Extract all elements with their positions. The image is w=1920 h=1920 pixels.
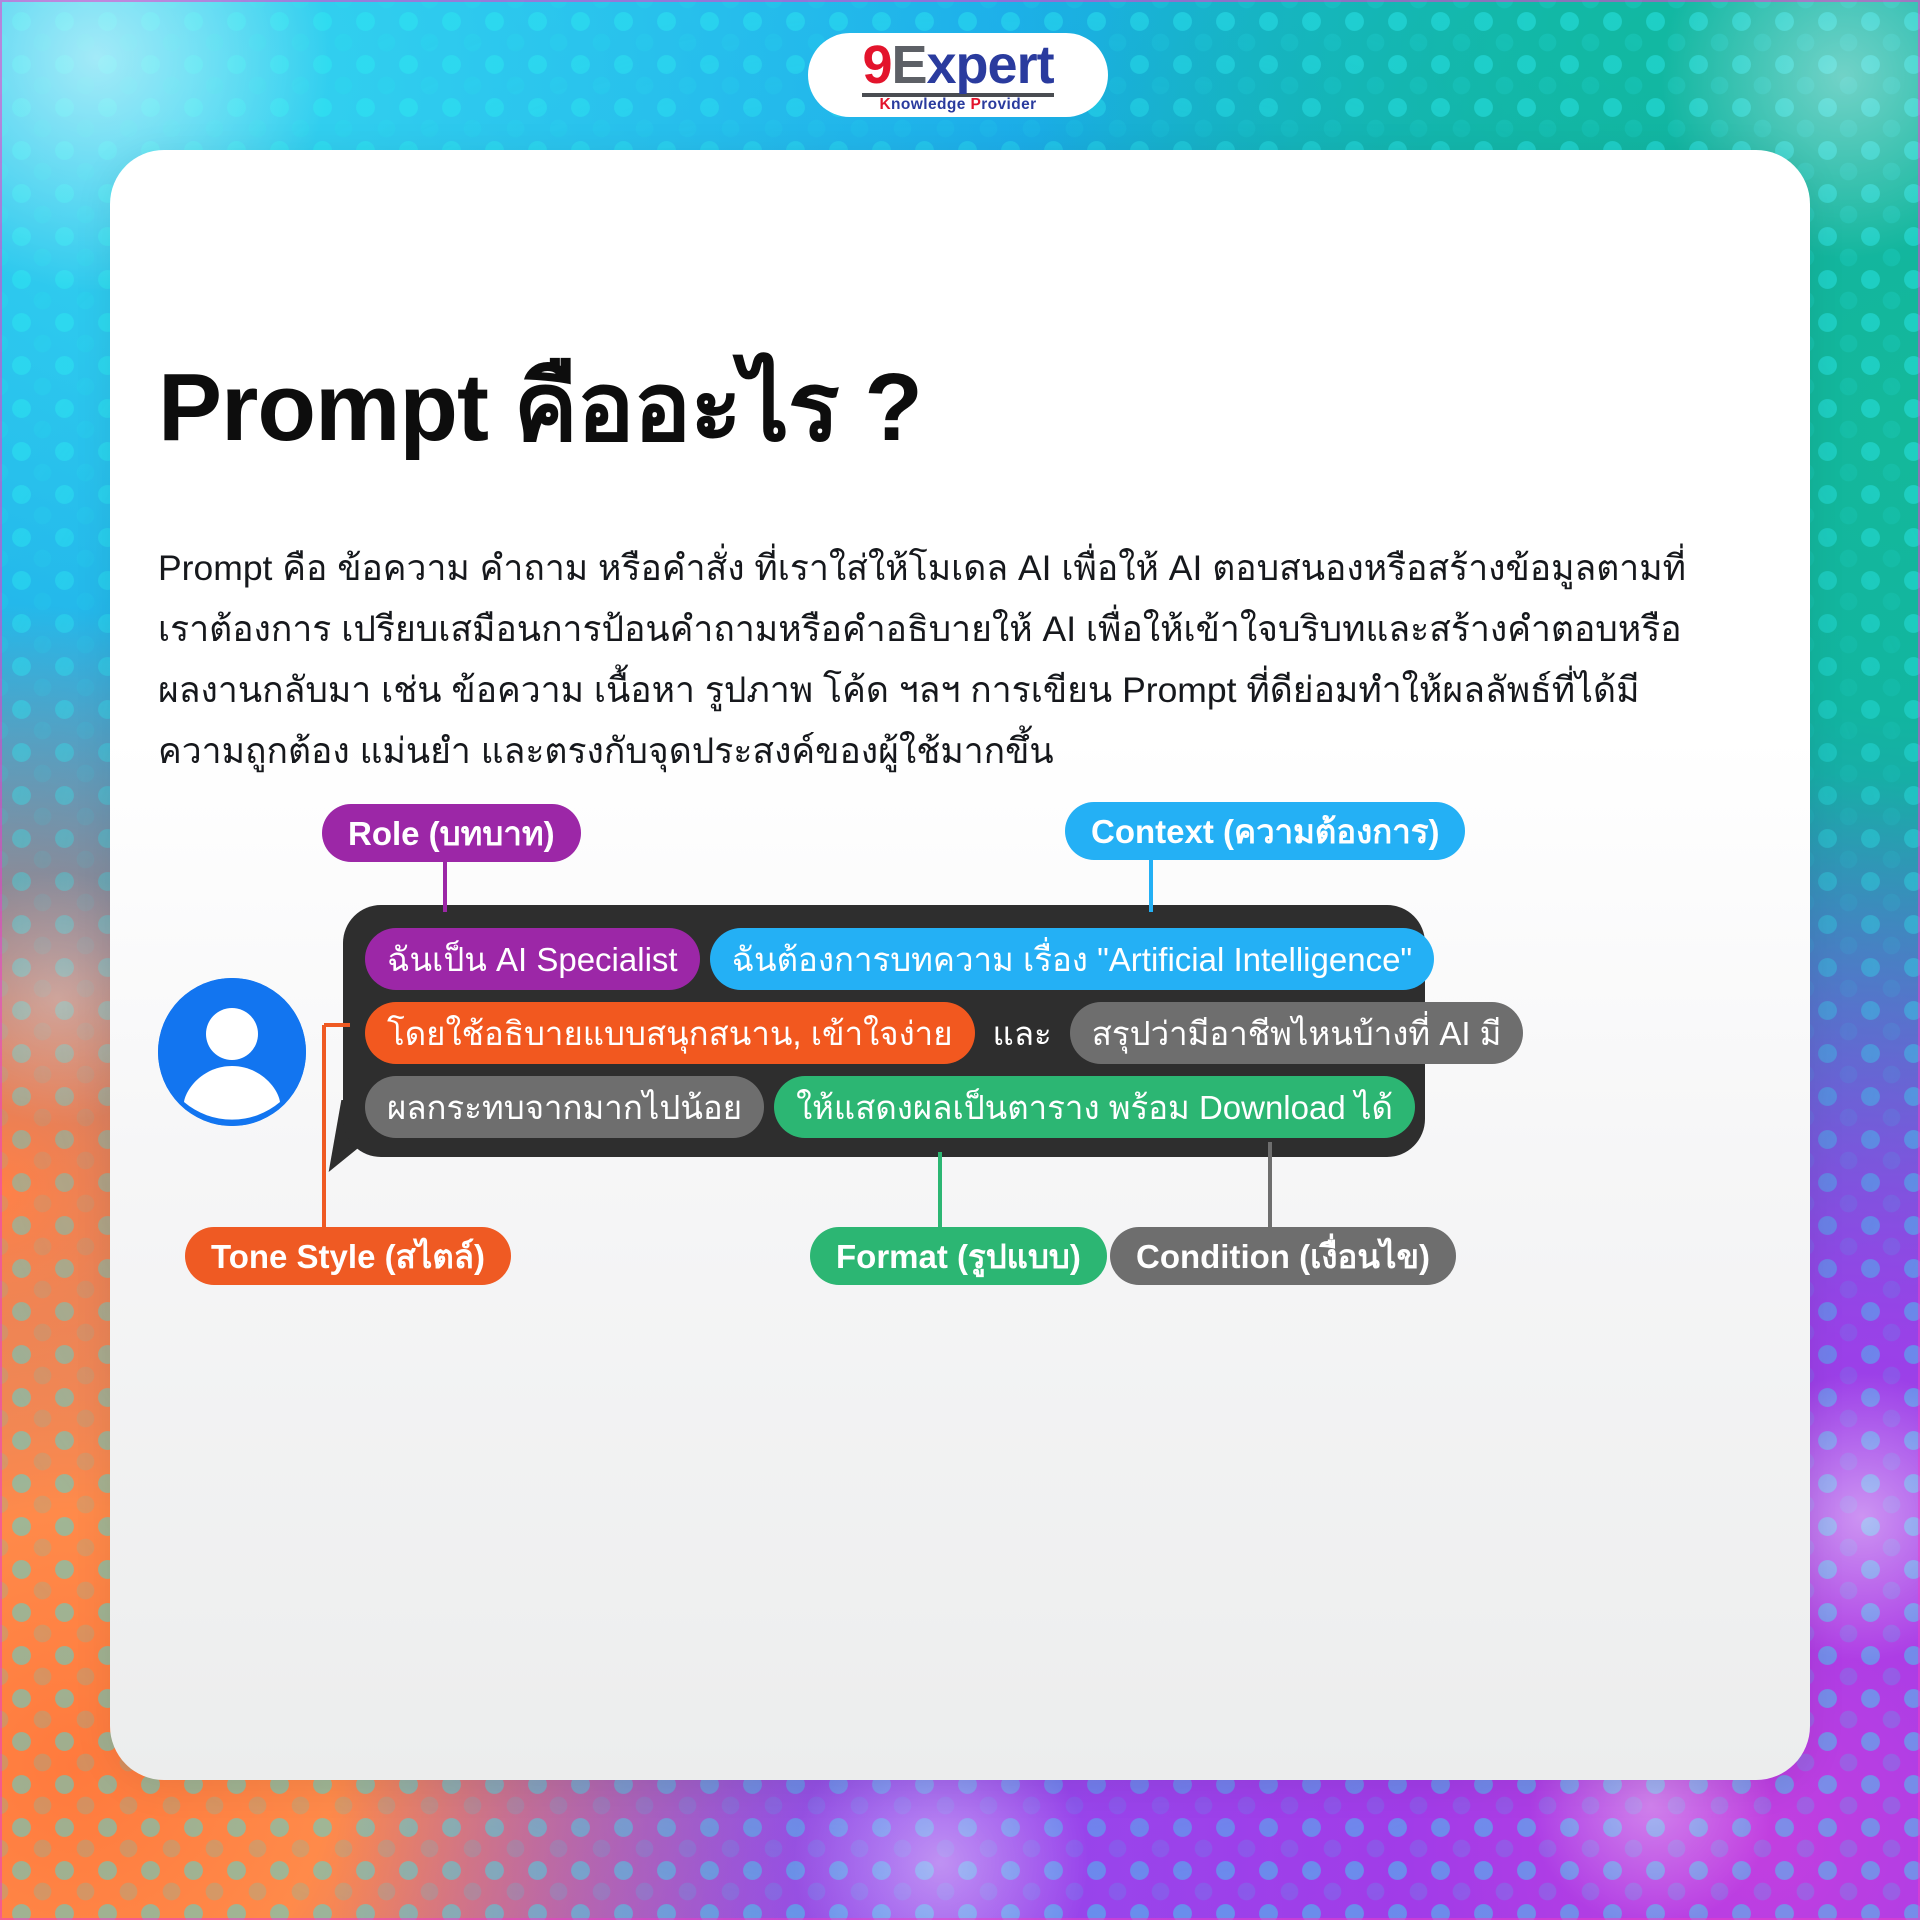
callout-context[interactable]: Context (ความต้องการ) (1065, 802, 1465, 860)
logo-tagline-k: K (879, 96, 891, 113)
logo-letter-e: E (891, 35, 926, 95)
callout-format[interactable]: Format (รูปแบบ) (810, 1227, 1107, 1285)
page-title: Prompt คืออะไร ? (158, 358, 922, 459)
logo-tagline-p: P (970, 96, 981, 113)
callout-role[interactable]: Role (บทบาท) (322, 804, 581, 862)
logo-tagline: Knowledge Provider (862, 97, 1053, 113)
logo-tagline-nowledge: nowledge (891, 96, 970, 113)
callout-leader-lines (110, 790, 1810, 1510)
logo-tagline-rovider: rovider (981, 96, 1036, 113)
logo-wordmark: 9Expert (862, 38, 1053, 92)
brand-logo: 9Expert Knowledge Provider (808, 33, 1108, 117)
callout-tone-style[interactable]: Tone Style (สไตล์) (185, 1227, 511, 1285)
callout-condition[interactable]: Condition (เงื่อนไข) (1110, 1227, 1456, 1285)
logo-text-xpert: xpert (927, 35, 1054, 95)
body-paragraph: Prompt คือ ข้อความ คำถาม หรือคำสั่ง ที่เ… (158, 538, 1718, 782)
prompt-diagram: ฉันเป็น AI Specialist ฉันต้องการบทความ เ… (110, 790, 1810, 1510)
logo-digit: 9 (862, 35, 891, 95)
content-card: Prompt คืออะไร ? Prompt คือ ข้อความ คำถา… (110, 150, 1810, 1780)
